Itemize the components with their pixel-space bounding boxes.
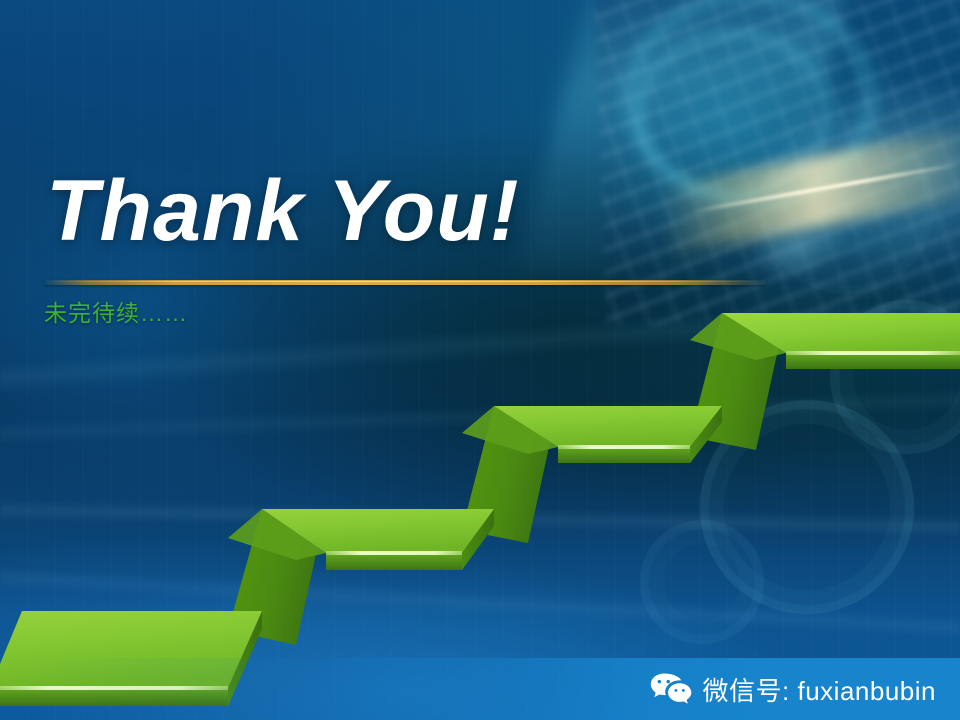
wechat-watermark-content: 微信号: fuxianbubin <box>650 671 936 708</box>
staircase-step-2 <box>228 509 494 645</box>
presentation-slide: Thank You! 未完待续…… 微信号: fuxianbubin <box>0 0 960 720</box>
slide-title: Thank You! <box>46 168 519 254</box>
green-3d-staircase <box>0 0 960 720</box>
gold-divider-highlight <box>44 281 766 282</box>
staircase-step-4 <box>690 313 960 450</box>
wechat-id-text: 微信号: fuxianbubin <box>703 671 936 708</box>
wechat-watermark-bar: 微信号: fuxianbubin <box>0 658 960 720</box>
staircase-step-3 <box>462 406 722 543</box>
slide-subtitle: 未完待续…… <box>44 294 188 328</box>
wechat-icon <box>650 672 692 706</box>
